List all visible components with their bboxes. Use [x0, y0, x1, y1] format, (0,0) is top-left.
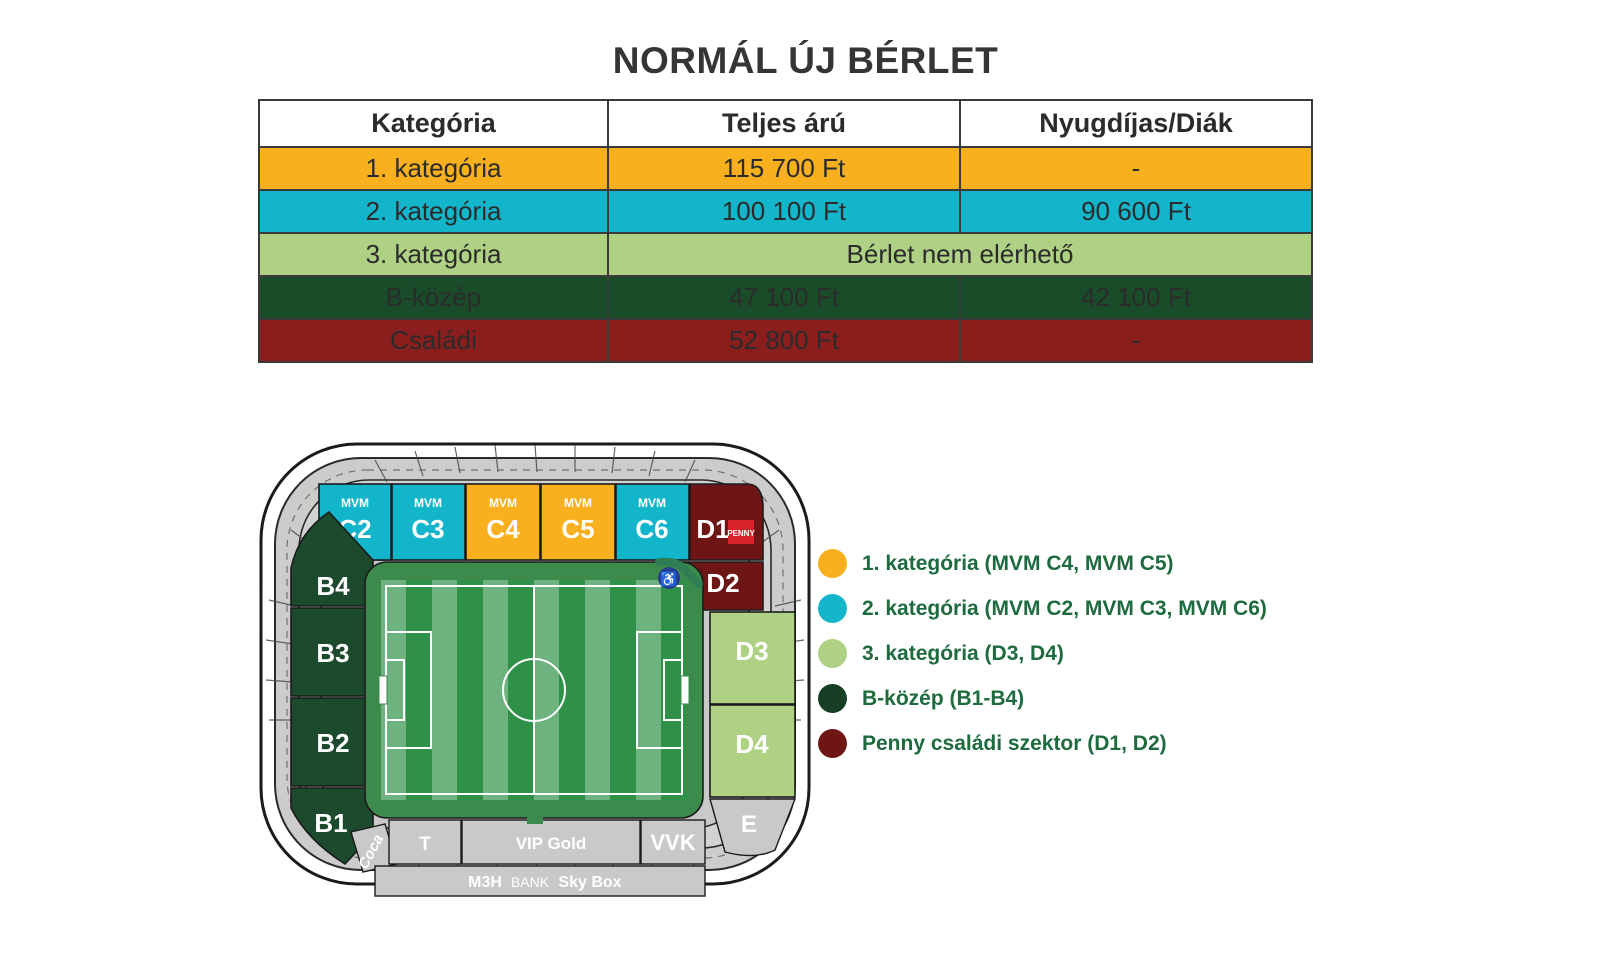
- legend-item: B-közép (B1-B4): [818, 676, 1378, 721]
- penny-logo: PENNY: [727, 520, 755, 544]
- table-row: 3. kategóriaBérlet nem elérhető: [259, 233, 1312, 276]
- section-C4[interactable]: MVM C4: [466, 484, 540, 560]
- section-id-label: B3: [316, 638, 349, 668]
- section-vip-gold[interactable]: VIP Gold: [462, 820, 640, 864]
- table-header-row: Kategória Teljes árú Nyugdíjas/Diák: [259, 100, 1312, 147]
- section-id-label: C6: [635, 514, 668, 544]
- page-title: NORMÁL ÚJ BÉRLET: [0, 40, 1611, 82]
- section-brand-label: MVM: [564, 496, 592, 510]
- section-id-label: C4: [486, 514, 520, 544]
- legend-label: Penny családi szektor (D1, D2): [862, 732, 1167, 756]
- cell-category: Családi: [259, 319, 608, 362]
- cell-category: 3. kategória: [259, 233, 608, 276]
- section-id-label: D1: [696, 514, 729, 544]
- legend-item: 1. kategória (MVM C4, MVM C5): [818, 541, 1378, 586]
- south-stand: Coca T VIP Gold VVK M3H BANK Sky Box: [351, 816, 705, 896]
- table-row: 1. kategória115 700 Ft-: [259, 147, 1312, 190]
- section-id-label: D3: [735, 636, 768, 666]
- section-C3[interactable]: MVM C3: [392, 484, 465, 560]
- cell-full-price: 115 700 Ft: [608, 147, 960, 190]
- vip-gold-label: VIP Gold: [516, 834, 587, 853]
- table-row: B-közép47 100 Ft42 100 Ft: [259, 276, 1312, 319]
- cell-reduced-price: 42 100 Ft: [960, 276, 1312, 319]
- legend-label: 3. kategória (D3, D4): [862, 642, 1064, 666]
- section-sky-box[interactable]: M3H BANK Sky Box: [375, 866, 705, 896]
- legend: 1. kategória (MVM C4, MVM C5)2. kategóri…: [818, 541, 1378, 766]
- svg-text:PENNY: PENNY: [727, 529, 755, 538]
- cell-full-price: 100 100 Ft: [608, 190, 960, 233]
- pitch-area: [365, 562, 703, 818]
- table-row: Családi52 800 Ft-: [259, 319, 1312, 362]
- telekom-logo: T: [419, 834, 431, 855]
- section-vvk[interactable]: VVK: [641, 820, 705, 864]
- column-header-reduced: Nyugdíjas/Diák: [960, 100, 1312, 147]
- section-C5[interactable]: MVM C5: [541, 484, 615, 560]
- section-brand-label: MVM: [638, 496, 666, 510]
- table-body: 1. kategória115 700 Ft-2. kategória100 1…: [259, 147, 1312, 362]
- sky-box-label: Sky Box: [558, 874, 621, 891]
- cell-category: B-közép: [259, 276, 608, 319]
- section-brand-label: MVM: [341, 496, 369, 510]
- section-D3[interactable]: D3: [710, 612, 795, 704]
- section-id-label: C5: [561, 514, 594, 544]
- cell-full-price-merged: Bérlet nem elérhető: [608, 233, 1312, 276]
- west-stand: B4 B3 B2 B1: [291, 512, 373, 864]
- section-id-label: E: [741, 811, 757, 838]
- section-brand-label: MVM: [414, 496, 442, 510]
- mbh-bank-word: BANK: [511, 874, 550, 890]
- table-row: 2. kategória100 100 Ft90 600 Ft: [259, 190, 1312, 233]
- section-id-label: B2: [316, 728, 349, 758]
- wheelchair-icon: ♿: [660, 571, 677, 588]
- section-id-label: B4: [316, 571, 350, 601]
- column-header-category: Kategória: [259, 100, 608, 147]
- vvk-label: VVK: [650, 830, 695, 855]
- cell-full-price: 52 800 Ft: [608, 319, 960, 362]
- cell-full-price: 47 100 Ft: [608, 276, 960, 319]
- legend-label: B-közép (B1-B4): [862, 687, 1024, 711]
- legend-color-dot: [818, 549, 847, 578]
- legend-color-dot: [818, 639, 847, 668]
- legend-label: 1. kategória (MVM C4, MVM C5): [862, 552, 1174, 576]
- north-stand: MVM C2 MVM C3 MVM C4 MVM C5 MVM C6: [319, 484, 689, 560]
- section-B3[interactable]: B3: [291, 608, 373, 696]
- legend-item: 3. kategória (D3, D4): [818, 631, 1378, 676]
- section-id-label: D2: [706, 568, 739, 598]
- section-D4[interactable]: D4: [710, 705, 795, 797]
- legend-color-dot: [818, 594, 847, 623]
- legend-color-dot: [818, 729, 847, 758]
- cell-reduced-price: -: [960, 147, 1312, 190]
- section-brand-label: MVM: [489, 496, 517, 510]
- section-telekom[interactable]: T: [389, 820, 461, 864]
- section-D1[interactable]: D1 PENNY: [690, 484, 763, 560]
- column-header-full-price: Teljes árú: [608, 100, 960, 147]
- price-table: Kategória Teljes árú Nyugdíjas/Diák 1. k…: [258, 99, 1313, 363]
- cell-category: 2. kategória: [259, 190, 608, 233]
- section-id-label: D4: [735, 729, 769, 759]
- stadium-map: MVM C2 MVM C3 MVM C4 MVM C5 MVM C6 D1: [255, 420, 815, 900]
- mbh-bank-logo: M3H: [468, 874, 502, 891]
- legend-label: 2. kategória (MVM C2, MVM C3, MVM C6): [862, 597, 1267, 621]
- cell-reduced-price: -: [960, 319, 1312, 362]
- section-B2[interactable]: B2: [291, 698, 373, 786]
- section-id-label: C3: [411, 514, 444, 544]
- legend-color-dot: [818, 684, 847, 713]
- section-id-label: B1: [314, 808, 347, 838]
- cell-reduced-price: 90 600 Ft: [960, 190, 1312, 233]
- legend-item: Penny családi szektor (D1, D2): [818, 721, 1378, 766]
- section-C6[interactable]: MVM C6: [616, 484, 689, 560]
- legend-item: 2. kategória (MVM C2, MVM C3, MVM C6): [818, 586, 1378, 631]
- cell-category: 1. kategória: [259, 147, 608, 190]
